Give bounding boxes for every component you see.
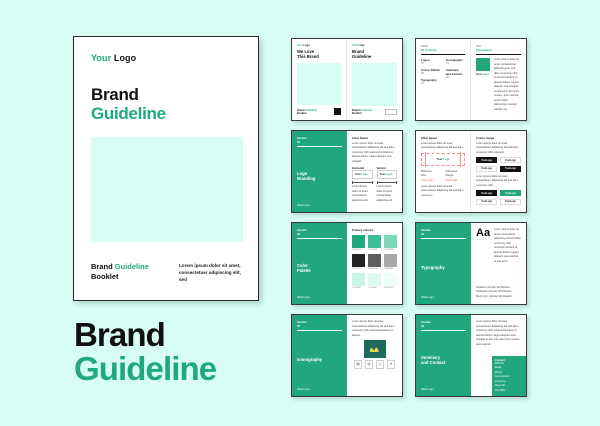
- spread-color-palette[interactable]: Section 03 ColorPalette Your Logo Prima: [291, 222, 403, 305]
- clear-space-note: Lorem ipsum dolor sit amet consectetuer …: [352, 185, 373, 203]
- cover-title-line1: Brand: [91, 85, 139, 104]
- document-icon[interactable]: ▥: [365, 360, 374, 369]
- gear-icon[interactable]: ✳: [387, 360, 396, 369]
- phone-icon[interactable]: ▯: [376, 360, 385, 369]
- font-spec-row: Body copy: Circular Std Regular: [476, 295, 521, 299]
- toc-item: Typography05: [421, 78, 440, 85]
- section-number: 03: [297, 232, 342, 236]
- colour-swatch: #7ED8BB: [384, 235, 397, 251]
- measure-arrow-icon: [377, 181, 398, 184]
- section-title: LogoBranding: [297, 172, 315, 182]
- spread-typography[interactable]: Section 04 Typography Your Logo Aa Lorem…: [415, 222, 527, 305]
- page-clear-space: Clear Space Lorem ipsum dolor sit amet c…: [347, 131, 402, 212]
- page-contact-content: Lorem ipsum dolor sit amet consectetuer …: [471, 315, 526, 396]
- cover-image-placeholder: [91, 137, 243, 242]
- toc-item: Logos03: [421, 58, 440, 65]
- section-title: Typography: [421, 266, 445, 271]
- page-heading: We Love This Brand: [297, 50, 341, 60]
- guide-logo-sample: Your Logo: [421, 179, 441, 182]
- logo-chip: Your Logo: [476, 157, 497, 163]
- photo-placeholder: [364, 340, 386, 358]
- logo-box-vertical: Your Logo: [377, 170, 398, 179]
- outline-marker-icon: [385, 109, 397, 115]
- measure-arrow-icon: [352, 181, 373, 184]
- toc-title: Of Contents: [421, 48, 465, 52]
- typography-body: Lorem ipsum dolor sit amet consectetuer …: [494, 228, 521, 264]
- image-icon[interactable]: ▤: [354, 360, 363, 369]
- clear-space-heading: Clear Space: [421, 136, 465, 140]
- page-introduction: Our Introduction Your Logo Lorem ipsum d…: [471, 39, 526, 120]
- thumbnail-row-2: Section 01 LogoBranding Your Logo Clear: [291, 130, 527, 213]
- cover-footer-brand: Brand: [91, 262, 115, 271]
- page-footer-logo: Your Logo: [297, 388, 342, 391]
- page-footer-title: Brand GuidelineBooklet: [352, 109, 372, 115]
- page-table-of-contents: Table Of Contents Logos03 Colour Palette…: [416, 39, 471, 120]
- toc-item: Colour Palette05: [421, 68, 440, 75]
- section-number: 04: [421, 232, 466, 236]
- cover-title-line2: Guideline: [91, 104, 241, 123]
- page-footer-title: Brand GuidelineBooklet: [297, 109, 317, 115]
- page-brand-guideline: Your Logo Brand Guideline Brand Guidelin…: [347, 39, 402, 120]
- page-iconography-content: Lorem ipsum dolor sit amet consectetuer …: [347, 315, 402, 396]
- page-footer-logo: Your Logo: [421, 296, 466, 299]
- page-logo-branding-title: Section 01 LogoBranding Your Logo: [292, 131, 347, 212]
- section-number: 01: [297, 140, 342, 144]
- page-colour-usage: Colour Usage Lorem ipsum dolor sit amet …: [471, 131, 526, 212]
- guide-logo-sample: Your Logo: [446, 179, 466, 182]
- thumbnail-row-1: Your Logo We Love This Brand Brand Guide…: [291, 38, 527, 121]
- logo-chip: Your Logo: [476, 190, 497, 196]
- poster-headline-line2: Guideline: [74, 352, 216, 386]
- colour-swatch: #C9F5E7: [352, 273, 365, 289]
- page-iconography-title: Section 05 Iconography Your Logo: [292, 315, 347, 396]
- contact-line: City 0000: [495, 389, 523, 394]
- thumbnail-row-3: Section 03 ColorPalette Your Logo Prima: [291, 222, 527, 305]
- colour-swatch: #EDFDF8: [384, 273, 397, 289]
- clear-space-intro: Lorem ipsum dolor sit amet consectetuer …: [421, 142, 465, 151]
- page-primary-colours: Primary colours #1FA77D #3CBF98 #7ED8BB …: [347, 223, 402, 304]
- spread-iconography[interactable]: Section 05 Iconography Your Logo Lorem i…: [291, 314, 403, 397]
- toc-columns: Logos03 Colour Palette05 Typography05 Ic…: [421, 58, 465, 85]
- colour-swatch: #222222: [352, 254, 365, 270]
- page-logo: Your Logo: [297, 44, 341, 47]
- colour-swatch-grid: #1FA77D #3CBF98 #7ED8BB #222222 #5E5E5E …: [352, 235, 397, 289]
- page-footer-logo: Your Logo: [297, 204, 342, 207]
- page-typography-title: Section 04 Typography Your Logo: [416, 223, 471, 304]
- spread-contents[interactable]: Table Of Contents Logos03 Colour Palette…: [415, 38, 527, 121]
- spread-clearspace-colourusage[interactable]: Clear Space Lorem ipsum dolor sit amet c…: [415, 130, 527, 213]
- colour-swatch: #1FA77D: [352, 235, 365, 251]
- contact-block: Contact Website Email Phone Lorem ipsum …: [492, 356, 526, 397]
- section-number: 06: [421, 324, 466, 328]
- square-marker-icon: [334, 108, 341, 115]
- colour-usage-body: Lorem ipsum dolor sit amet consectetuer …: [476, 142, 521, 156]
- logo-chip: Your Logo: [476, 199, 497, 205]
- cover-footer-body: Lorem ipsum dolor sit amet, consectetuer…: [179, 262, 241, 283]
- intro-logo: Your Logo: [476, 73, 490, 76]
- spread-cover[interactable]: Your Logo We Love This Brand Brand Guide…: [291, 38, 403, 121]
- logo-colour-chip-group: Your Logo Your Logo Your Logo Your Logo: [476, 157, 521, 172]
- iconography-body: Lorem ipsum dolor sit amet consectetuer …: [352, 320, 397, 338]
- cover-footer-booklet: Booklet: [91, 272, 119, 281]
- colour-swatch: #DDFAF1: [368, 273, 381, 289]
- logo-chip: Your Logo: [500, 199, 521, 205]
- page-summary-title: Section 06 Summaryand Contact Your Logo: [416, 315, 471, 396]
- clear-space-note: Lorem ipsum dolor sit amet consectetuer …: [377, 185, 398, 203]
- cover-footer: Brand Guideline Booklet Lorem ipsum dolo…: [91, 262, 241, 283]
- type-specimen: Aa: [476, 228, 490, 264]
- colour-swatch: #3CBF98: [368, 235, 381, 251]
- page-color-palette-title: Section 03 ColorPalette Your Logo: [292, 223, 347, 304]
- colour-swatch: #5E5E5E: [368, 254, 381, 270]
- page-logo: Your Logo: [352, 44, 397, 47]
- summary-body: Lorem ipsum dolor sit amet consectetuer …: [476, 320, 521, 347]
- page-heading: Brand Guideline: [352, 50, 397, 60]
- logo-chip: Your Logo: [476, 166, 497, 172]
- page-typography-specimen: Aa Lorem ipsum dolor sit amet consectetu…: [471, 223, 526, 304]
- logo-chip: Your Logo: [500, 190, 521, 196]
- clear-space-heading: Clear Space: [352, 136, 397, 140]
- font-spec-list: Headline: Circular Std Medium Subheads: …: [476, 286, 521, 299]
- clear-space-guide-diagram: Your Logo: [421, 153, 465, 166]
- brand-guideline-cover-page: Your Logo Brand Guideline Brand Guidelin…: [73, 36, 259, 301]
- logo-colour-chip-group-2: Your Logo Your Logo Your Logo Your Logo: [476, 190, 521, 205]
- page-footer-logo: Your Logo: [297, 296, 342, 299]
- clear-space-body: Lorem ipsum dolor sit amet consectetuer …: [352, 142, 397, 165]
- toc-item: Summaryand Contact06: [446, 68, 465, 79]
- clear-space-footnote: Lorem ipsum dolor sit amet consectetuer …: [421, 185, 465, 199]
- cover-logo: Your Logo: [91, 53, 241, 63]
- logo-chip: Your Logo: [500, 157, 521, 163]
- logo-chip: Your Logo: [500, 166, 521, 172]
- section-title: Iconography: [297, 358, 322, 363]
- intro-body: Lorem ipsum dolor sit amet, consectetuer…: [494, 58, 521, 112]
- cover-title: Brand Guideline: [91, 85, 241, 123]
- spread-summary-contact[interactable]: Section 06 Summaryand Contact Your Logo: [415, 314, 527, 397]
- page-image-placeholder: [352, 63, 397, 106]
- page-footer-logo: Your Logo: [421, 388, 466, 391]
- colour-usage-body-2: Lorem ipsum dolor sit amet consectetuer …: [476, 175, 521, 189]
- section-number: 05: [297, 324, 342, 328]
- intro-swatch: [476, 58, 490, 71]
- spread-logo-branding[interactable]: Section 01 LogoBranding Your Logo Clear: [291, 130, 403, 213]
- colour-swatch: #A8A8A8: [384, 254, 397, 270]
- cover-logo-your: Your: [91, 53, 114, 63]
- page-we-love: Your Logo We Love This Brand Brand Guide…: [292, 39, 347, 120]
- intro-title: Introduction: [476, 48, 521, 52]
- spread-thumbnail-grid: Your Logo We Love This Brand Brand Guide…: [291, 38, 527, 406]
- icon-row: ▤ ▥ ▯ ✳: [352, 360, 397, 369]
- cover-logo-logo: Logo: [114, 53, 136, 63]
- section-title: ColorPalette: [297, 264, 311, 274]
- cover-footer-title: Brand Guideline Booklet: [91, 262, 149, 282]
- colour-usage-heading: Colour Usage: [476, 136, 521, 140]
- page-clear-space-guides: Clear Space Lorem ipsum dolor sit amet c…: [416, 131, 471, 212]
- thumbnail-row-4: Section 05 Iconography Your Logo Lorem i…: [291, 314, 527, 397]
- cover-footer-guideline: Guideline: [115, 262, 149, 271]
- section-title: Summaryand Contact: [421, 356, 445, 366]
- toc-item: Iconography04: [446, 58, 465, 65]
- poster-canvas: Your Logo Brand Guideline Brand Guidelin…: [0, 0, 600, 426]
- poster-headline-line1: Brand: [74, 318, 216, 352]
- primary-colours-heading: Primary colours: [352, 228, 397, 232]
- logo-box-horizontal: Your Logo: [352, 170, 373, 179]
- page-image-placeholder: [297, 63, 341, 105]
- poster-headline: Brand Guideline: [74, 318, 216, 385]
